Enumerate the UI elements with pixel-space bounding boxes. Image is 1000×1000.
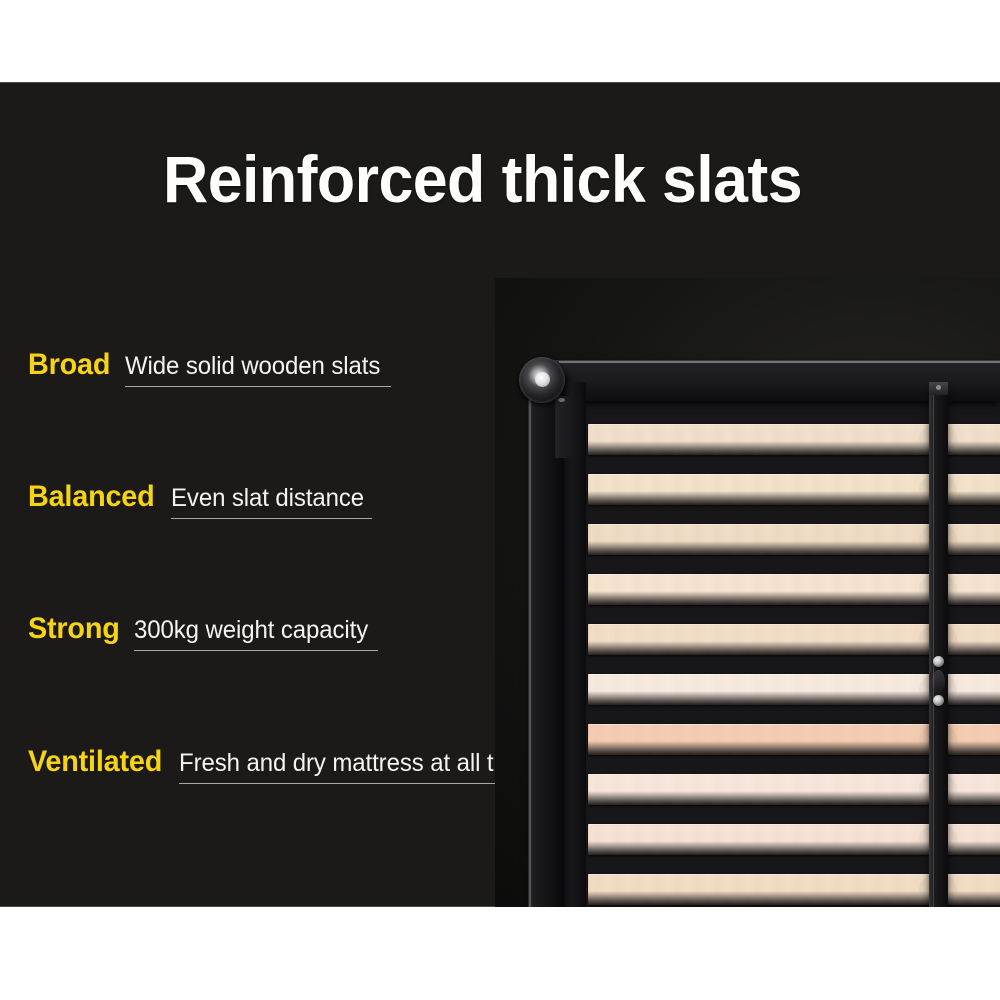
dark-panel: Reinforced thick slats Broad Wide solid …: [0, 82, 1000, 907]
product-photo-bed-slats: [495, 278, 1000, 907]
feature-key-label: Strong: [28, 612, 120, 646]
feature-value-label: Fresh and dry mattress at all times: [179, 750, 544, 776]
frame-corner-bracket: [555, 396, 581, 458]
feature-item-ventilated: Ventilated Fresh and dry mattress at all…: [28, 745, 559, 784]
feature-value-underline: Wide solid wooden slats: [125, 353, 391, 387]
feature-key-label: Balanced: [28, 480, 155, 514]
feature-value-label: Even slat distance: [171, 485, 364, 511]
panel-top-divider: [0, 82, 1000, 83]
feature-value-underline: Even slat distance: [171, 485, 372, 519]
frame-left-inner-post: [564, 382, 586, 907]
screw-icon: [933, 656, 944, 667]
feature-key-label: Broad: [28, 348, 110, 382]
screw-icon: [933, 695, 944, 706]
page-title: Reinforced thick slats: [163, 146, 885, 212]
product-feature-banner: Reinforced thick slats Broad Wide solid …: [0, 0, 1000, 1000]
frame-center-support-bar: [929, 390, 948, 907]
center-bar-top-cap: [929, 382, 948, 395]
center-bar-hook: [932, 670, 945, 694]
feature-item-strong: Strong 300kg weight capacity: [28, 612, 378, 651]
feature-item-broad: Broad Wide solid wooden slats: [28, 348, 391, 387]
corner-bolt-icon: [519, 357, 565, 403]
feature-value-label: 300kg weight capacity: [134, 617, 368, 643]
bolt-highlight: [535, 372, 550, 387]
feature-item-balanced: Balanced Even slat distance: [28, 480, 372, 519]
feature-value-underline: 300kg weight capacity: [134, 617, 378, 651]
feature-value-label: Wide solid wooden slats: [125, 353, 380, 379]
feature-key-label: Ventilated: [28, 745, 162, 779]
